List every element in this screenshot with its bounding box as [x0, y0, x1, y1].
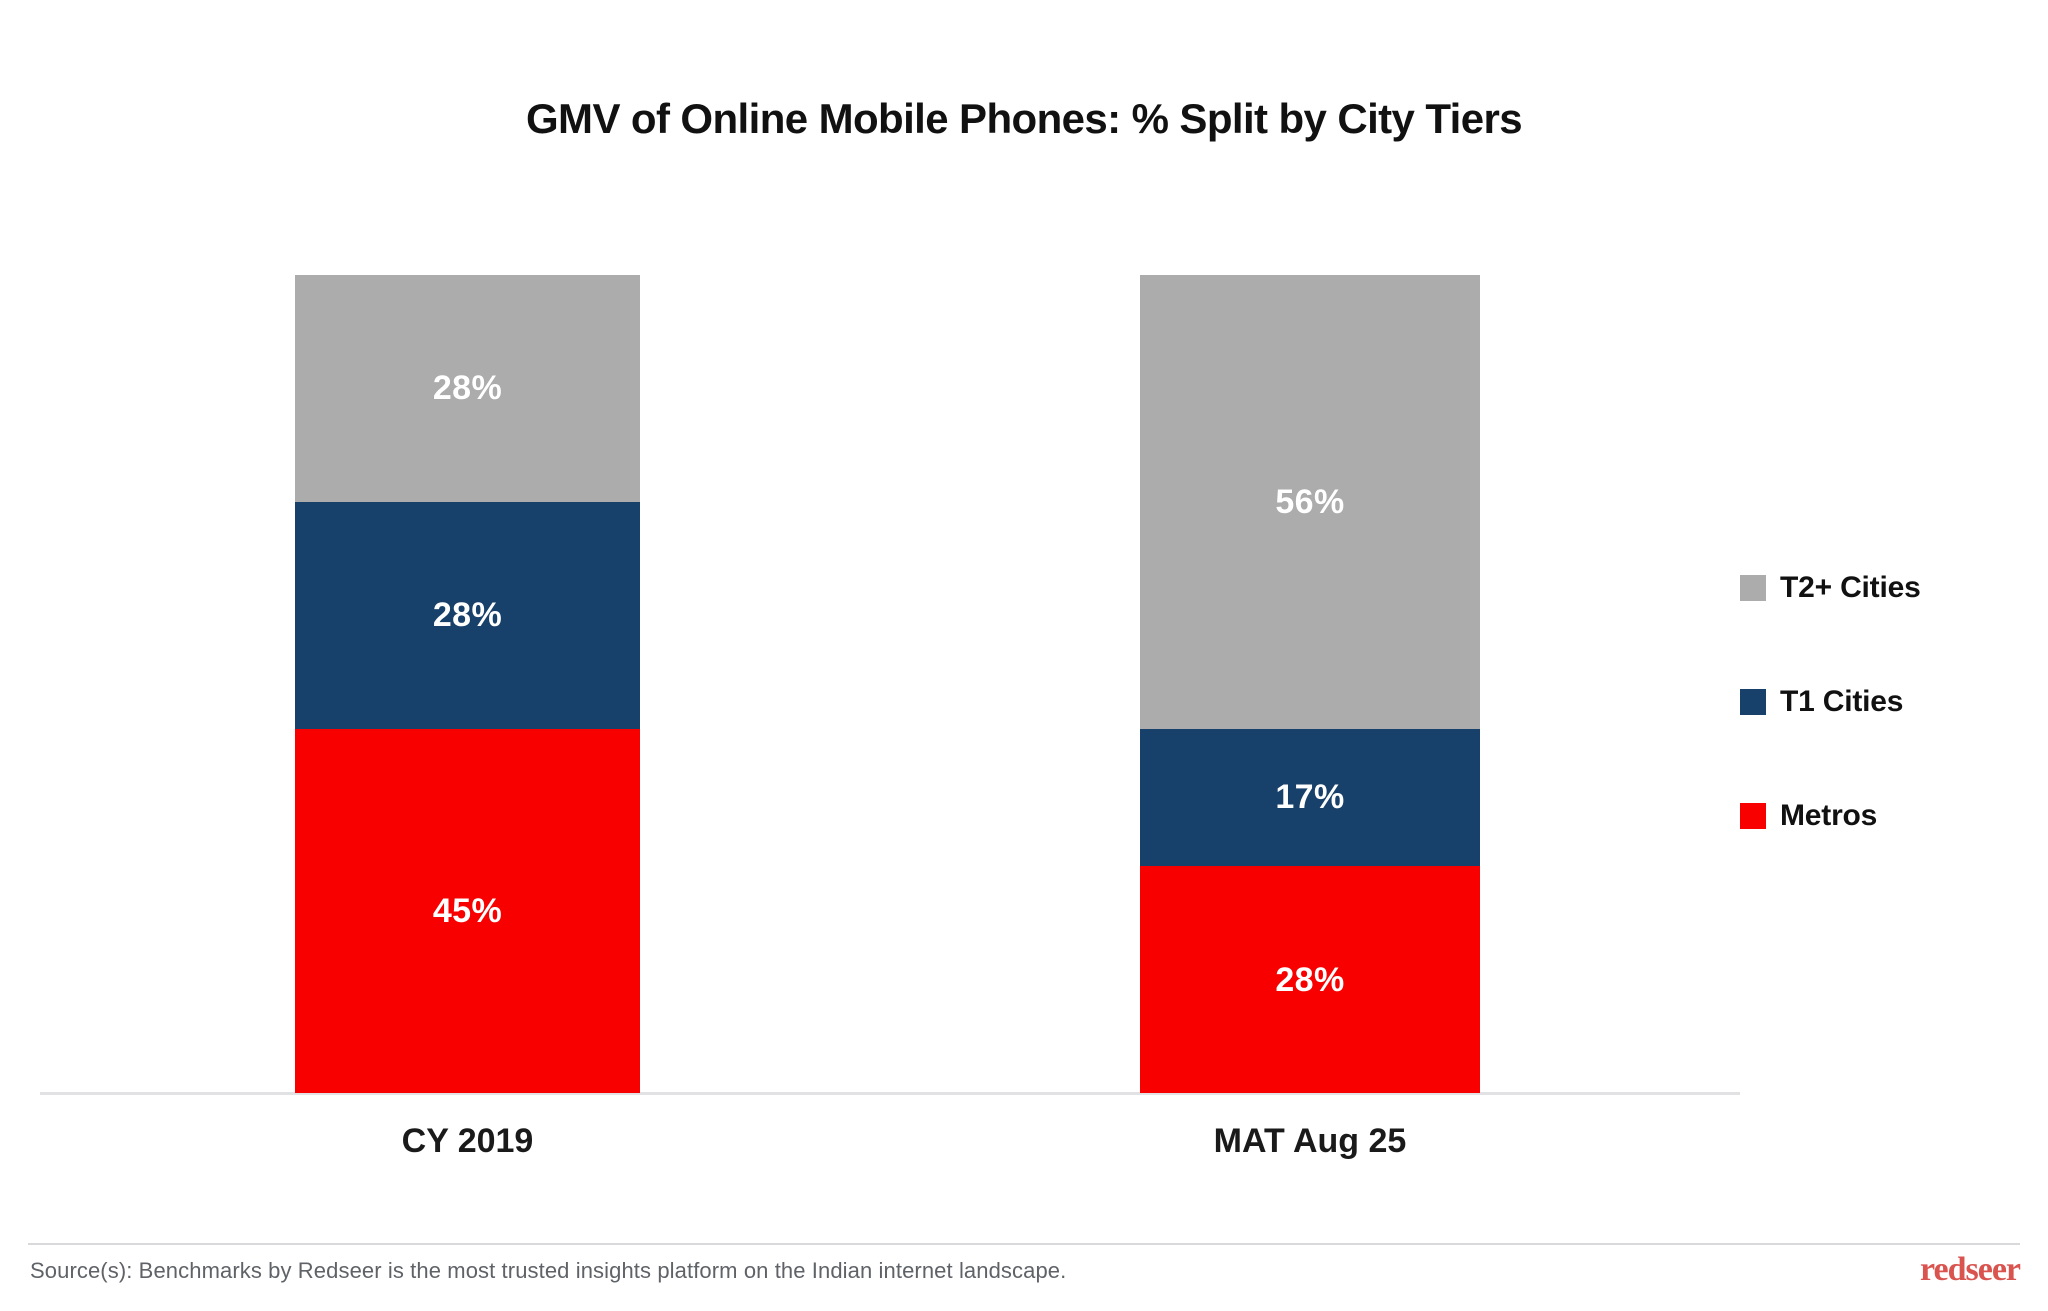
x-axis-category-label: MAT Aug 25: [1140, 1122, 1480, 1161]
bar-segment-value-label: 17%: [1275, 780, 1344, 814]
chart-legend: T2+ Cities T1 Cities Metros: [1740, 570, 1921, 834]
legend-item-metros[interactable]: Metros: [1740, 798, 1921, 834]
legend-swatch-icon: [1740, 689, 1766, 715]
bar-segment-t2plus[interactable]: 28%: [295, 275, 640, 502]
bar-segment-value-label: 28%: [433, 598, 502, 632]
bar-segment-value-label: 28%: [1275, 963, 1344, 997]
footer-divider: [28, 1243, 2020, 1245]
redseer-logo: redseer: [1920, 1253, 2020, 1287]
bar-segment-t2plus[interactable]: 56%: [1140, 275, 1480, 729]
legend-item-t2plus-cities[interactable]: T2+ Cities: [1740, 570, 1921, 606]
stacked-bar: 56% 17% 28%: [1140, 275, 1480, 1093]
legend-item-label: T2+ Cities: [1780, 571, 1921, 605]
chart-plot-area: 28% 28% 45% 56% 17% 28% CY 2019 MAT Aug …: [0, 0, 2048, 1311]
stacked-bar: 28% 28% 45%: [295, 275, 640, 1093]
bar-group-mat-aug-25: 56% 17% 28%: [1140, 275, 1480, 1093]
bar-segment-metros[interactable]: 45%: [295, 729, 640, 1093]
bar-segment-value-label: 56%: [1275, 485, 1344, 519]
bar-segment-t1[interactable]: 17%: [1140, 729, 1480, 867]
source-note: Source(s): Benchmarks by Redseer is the …: [30, 1258, 1066, 1284]
bar-segment-value-label: 45%: [433, 894, 502, 928]
legend-swatch-icon: [1740, 575, 1766, 601]
x-axis-category-label: CY 2019: [295, 1122, 640, 1161]
bar-group-cy-2019: 28% 28% 45%: [295, 275, 640, 1093]
bar-segment-metros[interactable]: 28%: [1140, 866, 1480, 1093]
legend-item-t1-cities[interactable]: T1 Cities: [1740, 684, 1921, 720]
legend-item-label: T1 Cities: [1780, 685, 1903, 719]
bar-segment-value-label: 28%: [433, 371, 502, 405]
legend-swatch-icon: [1740, 803, 1766, 829]
legend-item-label: Metros: [1780, 799, 1877, 833]
bar-segment-t1[interactable]: 28%: [295, 502, 640, 729]
